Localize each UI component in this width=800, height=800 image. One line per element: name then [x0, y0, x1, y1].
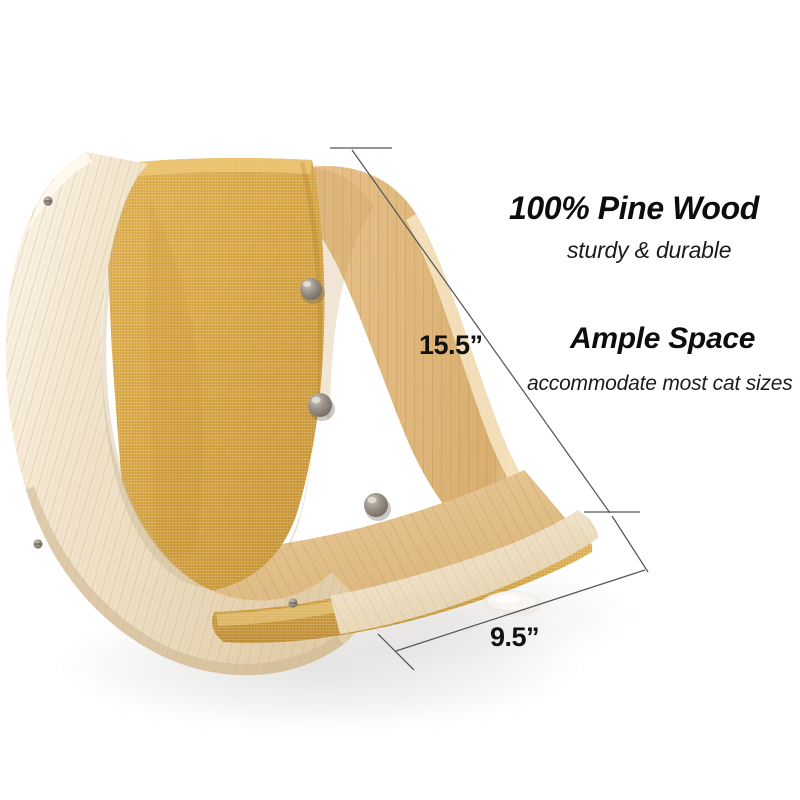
product-image-canvas: 15.5” 9.5” 100% Pine Wood sturdy & durab…: [0, 0, 800, 800]
marketing-copy: 100% Pine Wood sturdy & durable Ample Sp…: [0, 0, 800, 800]
feature-subheading-sturdy-durable: sturdy & durable: [567, 237, 731, 264]
feature-heading-ample-space: Ample Space: [570, 322, 755, 356]
feature-subheading-accommodate-cat-sizes: accommodate most cat sizes: [527, 372, 793, 396]
feature-heading-pine-wood: 100% Pine Wood: [509, 190, 759, 227]
